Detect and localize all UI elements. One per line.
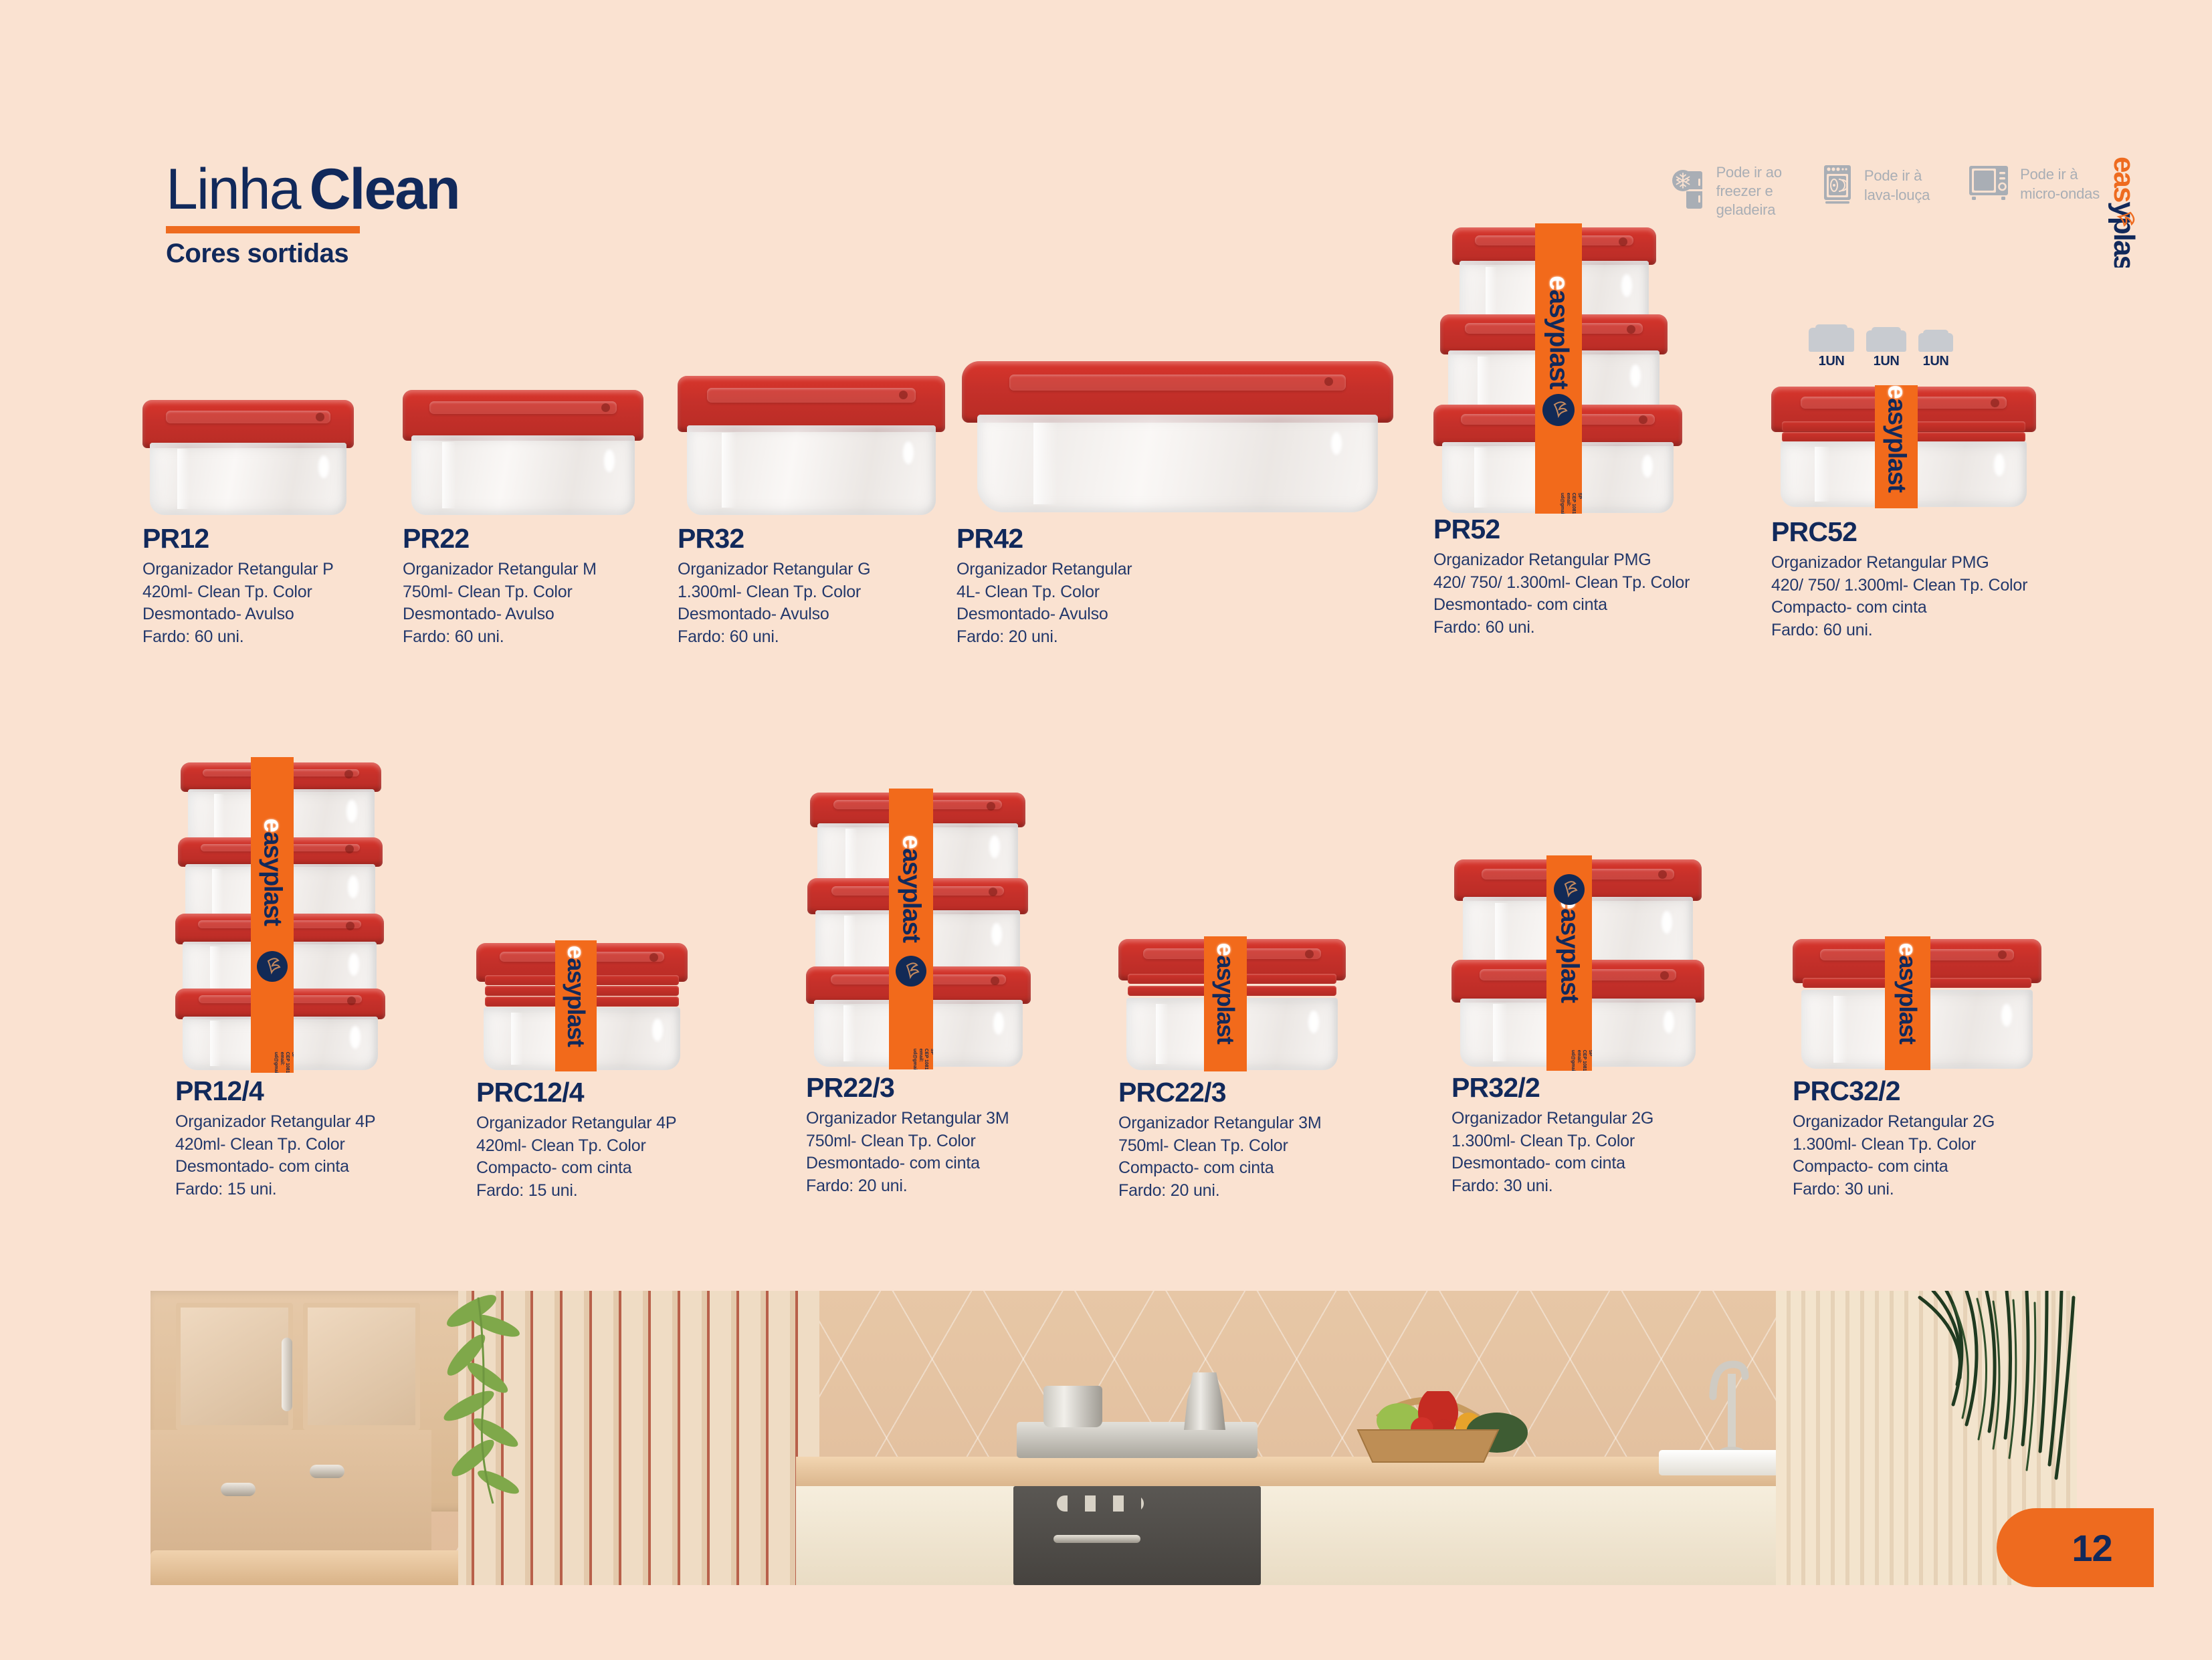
- easyplast-logo: easyplast: [2093, 155, 2146, 268]
- photo-drawer-knob: [221, 1483, 256, 1496]
- feature-label-dishwasher: Pode ir à lava-louça: [1864, 167, 1930, 204]
- product-description: Organizador Retangular M 750ml- Clean Tp…: [403, 558, 643, 648]
- page-number: 12: [2072, 1526, 2112, 1570]
- product-card-prc32-2[interactable]: easyplast PRC32/2 Organizador Retangular…: [1793, 936, 2060, 1201]
- product-image-pr52: easyplast EASYPLAST UD LTDA CNPJ 32.240.…: [1433, 227, 1748, 508]
- cinta-band-prc12-4: easyplast: [555, 940, 597, 1071]
- feature-freezer-geladeira: Pode ir ao freezer e geladeira: [1672, 163, 1782, 219]
- photo-cabinet-glass-door: [303, 1303, 420, 1430]
- page-subtitle: Cores sortidas: [166, 239, 634, 269]
- cinta-fine-print: EASYPLAST UD LTDA CNPJ 32.240.117 TEL (2…: [1569, 1050, 1592, 1071]
- product-card-pr32-2[interactable]: easyplast EASYPLAST UD LTDA CNPJ 32.240.…: [1451, 859, 1719, 1197]
- kitchen-lifestyle-photo: [150, 1291, 2077, 1585]
- product-description: Organizador Retangular 2G 1.300ml- Clean…: [1793, 1111, 2060, 1201]
- product-image-pr12-4: easyplast EASYPLAST UD LTDA CNPJ 32.240.…: [175, 762, 416, 1070]
- product-code: PR32/2: [1451, 1073, 1719, 1102]
- feature-label-freezer: Pode ir ao freezer e geladeira: [1716, 163, 1782, 219]
- product-code: PR22/3: [806, 1073, 1060, 1102]
- page-title-bold: Clean: [309, 157, 459, 221]
- product-image-pr32: [678, 368, 945, 515]
- cinta-band-pr12-4: easyplast EASYPLAST UD LTDA CNPJ 32.240.…: [251, 757, 294, 1073]
- product-code: PR42: [957, 524, 1398, 553]
- page-title-light: Linha: [166, 157, 300, 221]
- cinta-band-pr32-2: easyplast EASYPLAST UD LTDA CNPJ 32.240.…: [1546, 855, 1592, 1071]
- product-description: Organizador Retangular P 420ml- Clean Tp…: [142, 558, 363, 648]
- un-badge-item: 1UN: [1809, 328, 1854, 369]
- product-card-prc12-4[interactable]: easyplast PRC12/4 Organizador Retangular…: [476, 936, 724, 1202]
- product-card-pr12-4[interactable]: easyplast EASYPLAST UD LTDA CNPJ 32.240.…: [175, 762, 416, 1201]
- product-image-prc12-4: easyplast: [476, 936, 724, 1070]
- feature-lava-louca: Pode ir à lava-louça: [1819, 163, 1930, 208]
- un-badge-item: 1UN: [1918, 333, 1953, 369]
- container-mini-icon: [1809, 328, 1854, 352]
- cinta-fine-print: EASYPLAST UD LTDA CNPJ 32.240.117 TEL (2…: [272, 1052, 294, 1073]
- product-image-prc52: 1UN 1UN 1UN easyplast: [1771, 328, 2052, 508]
- product-description: Organizador Retangular 4P 420ml- Clean T…: [175, 1111, 416, 1201]
- un-badge-row: 1UN 1UN 1UN: [1809, 328, 1953, 369]
- product-description: Organizador Retangular 3M 750ml- Clean T…: [1118, 1112, 1373, 1202]
- product-code: PRC32/2: [1793, 1077, 2060, 1106]
- product-code: PRC52: [1771, 518, 2052, 546]
- cinta-fine-print: EASYPLAST UD LTDA CNPJ 32.240.117 TEL (2…: [1559, 493, 1582, 514]
- product-description: Organizador Retangular 3M 750ml- Clean T…: [806, 1108, 1060, 1197]
- product-image-pr12: [142, 388, 363, 515]
- product-card-pr42[interactable]: PR42 Organizador Retangular 4L- Clean Tp…: [957, 348, 1398, 648]
- photo-bench-top: [150, 1550, 485, 1585]
- product-code: PR52: [1433, 515, 1748, 544]
- photo-hanging-plant: [431, 1291, 605, 1512]
- cinta-band-pr22-3: easyplast EASYPLAST UD LTDA CNPJ 32.240.…: [889, 789, 933, 1069]
- product-card-pr32[interactable]: PR32 Organizador Retangular G 1.300ml- C…: [678, 368, 945, 648]
- un-badge-item: 1UN: [1866, 330, 1906, 369]
- product-image-prc22-3: easyplast: [1118, 936, 1373, 1070]
- butterfly-mark-icon: [896, 956, 926, 987]
- feature-icon-list: Pode ir ao freezer e geladeira: [1672, 163, 2100, 219]
- photo-cabinet-glass-door: [176, 1303, 293, 1430]
- cinta-band-prc52: easyplast: [1875, 385, 1918, 508]
- cinta-band-prc32-2: easyplast: [1885, 936, 1930, 1070]
- photo-oven-knobs: [1057, 1495, 1144, 1512]
- product-card-pr12[interactable]: PR12 Organizador Retangular P 420ml- Cle…: [142, 388, 363, 648]
- product-code: PR32: [678, 524, 945, 553]
- product-description: Organizador Retangular PMG 420/ 750/ 1.3…: [1433, 549, 1748, 639]
- un-badge-label: 1UN: [1809, 354, 1854, 369]
- un-badge-label: 1UN: [1866, 354, 1906, 369]
- product-code: PR12: [142, 524, 363, 553]
- feature-label-microwave: Pode ir à micro-ondas: [2020, 165, 2100, 203]
- product-image-pr42: [957, 348, 1398, 515]
- fridge-freezer-icon: [1672, 169, 1708, 214]
- product-description: Organizador Retangular G 1.300ml- Clean …: [678, 558, 945, 648]
- product-image-prc32-2: easyplast: [1793, 936, 2060, 1069]
- product-card-pr22-3[interactable]: easyplast EASYPLAST UD LTDA CNPJ 32.240.…: [806, 793, 1060, 1197]
- cinta-band-pr52: easyplast EASYPLAST UD LTDA CNPJ 32.240.…: [1535, 223, 1582, 514]
- photo-pot: [1043, 1386, 1102, 1427]
- butterfly-mark-icon: [1542, 394, 1575, 426]
- product-image-pr32-2: easyplast EASYPLAST UD LTDA CNPJ 32.240.…: [1451, 859, 1719, 1067]
- feature-micro-ondas: Pode ir à micro-ondas: [1967, 163, 2100, 205]
- page-title: LinhaClean: [166, 161, 634, 218]
- product-description: Organizador Retangular PMG 420/ 750/ 1.3…: [1771, 552, 2052, 641]
- product-code: PRC22/3: [1118, 1078, 1373, 1107]
- product-description: Organizador Retangular 4P 420ml- Clean T…: [476, 1112, 724, 1202]
- photo-cabinet-handle: [282, 1338, 292, 1411]
- product-card-prc52[interactable]: 1UN 1UN 1UN easyplast PRC52 Organizador …: [1771, 328, 2052, 641]
- photo-oven-handle: [1053, 1535, 1140, 1543]
- product-card-prc22-3[interactable]: easyplast PRC22/3 Organizador Retangular…: [1118, 936, 1373, 1202]
- product-code: PR22: [403, 524, 643, 553]
- product-image-pr22-3: easyplast EASYPLAST UD LTDA CNPJ 32.240.…: [806, 793, 1060, 1067]
- title-underline-rule: [166, 226, 360, 233]
- butterfly-mark-icon: [1554, 874, 1585, 905]
- dishwasher-icon: [1819, 163, 1855, 208]
- container-mini-icon: [1866, 330, 1906, 352]
- product-code: PR12/4: [175, 1077, 416, 1106]
- page-title-block: LinhaClean Cores sortidas: [166, 161, 634, 269]
- product-image-pr22: [403, 378, 643, 515]
- product-description: Organizador Retangular 4L- Clean Tp. Col…: [957, 558, 1398, 648]
- product-card-pr52[interactable]: easyplast EASYPLAST UD LTDA CNPJ 32.240.…: [1433, 227, 1748, 639]
- photo-drawer-knob: [310, 1465, 344, 1478]
- container-mini-icon: [1918, 333, 1953, 352]
- page-number-badge: 12: [1997, 1508, 2154, 1587]
- photo-faucet: [1702, 1350, 1753, 1458]
- product-description: Organizador Retangular 2G 1.300ml- Clean…: [1451, 1108, 1719, 1197]
- svg-text:easyplast: easyplast: [2108, 157, 2140, 268]
- cinta-band-prc22-3: easyplast: [1204, 936, 1247, 1071]
- product-code: PRC12/4: [476, 1078, 724, 1107]
- product-card-pr22[interactable]: PR22 Organizador Retangular M 750ml- Cle…: [403, 378, 643, 648]
- cinta-fine-print: EASYPLAST UD LTDA CNPJ 32.240.117 TEL (2…: [911, 1049, 933, 1069]
- microwave-icon: [1967, 163, 2011, 205]
- photo-vegetable-basket: [1338, 1391, 1538, 1463]
- butterfly-mark-icon: [257, 951, 288, 982]
- un-badge-label: 1UN: [1918, 354, 1953, 369]
